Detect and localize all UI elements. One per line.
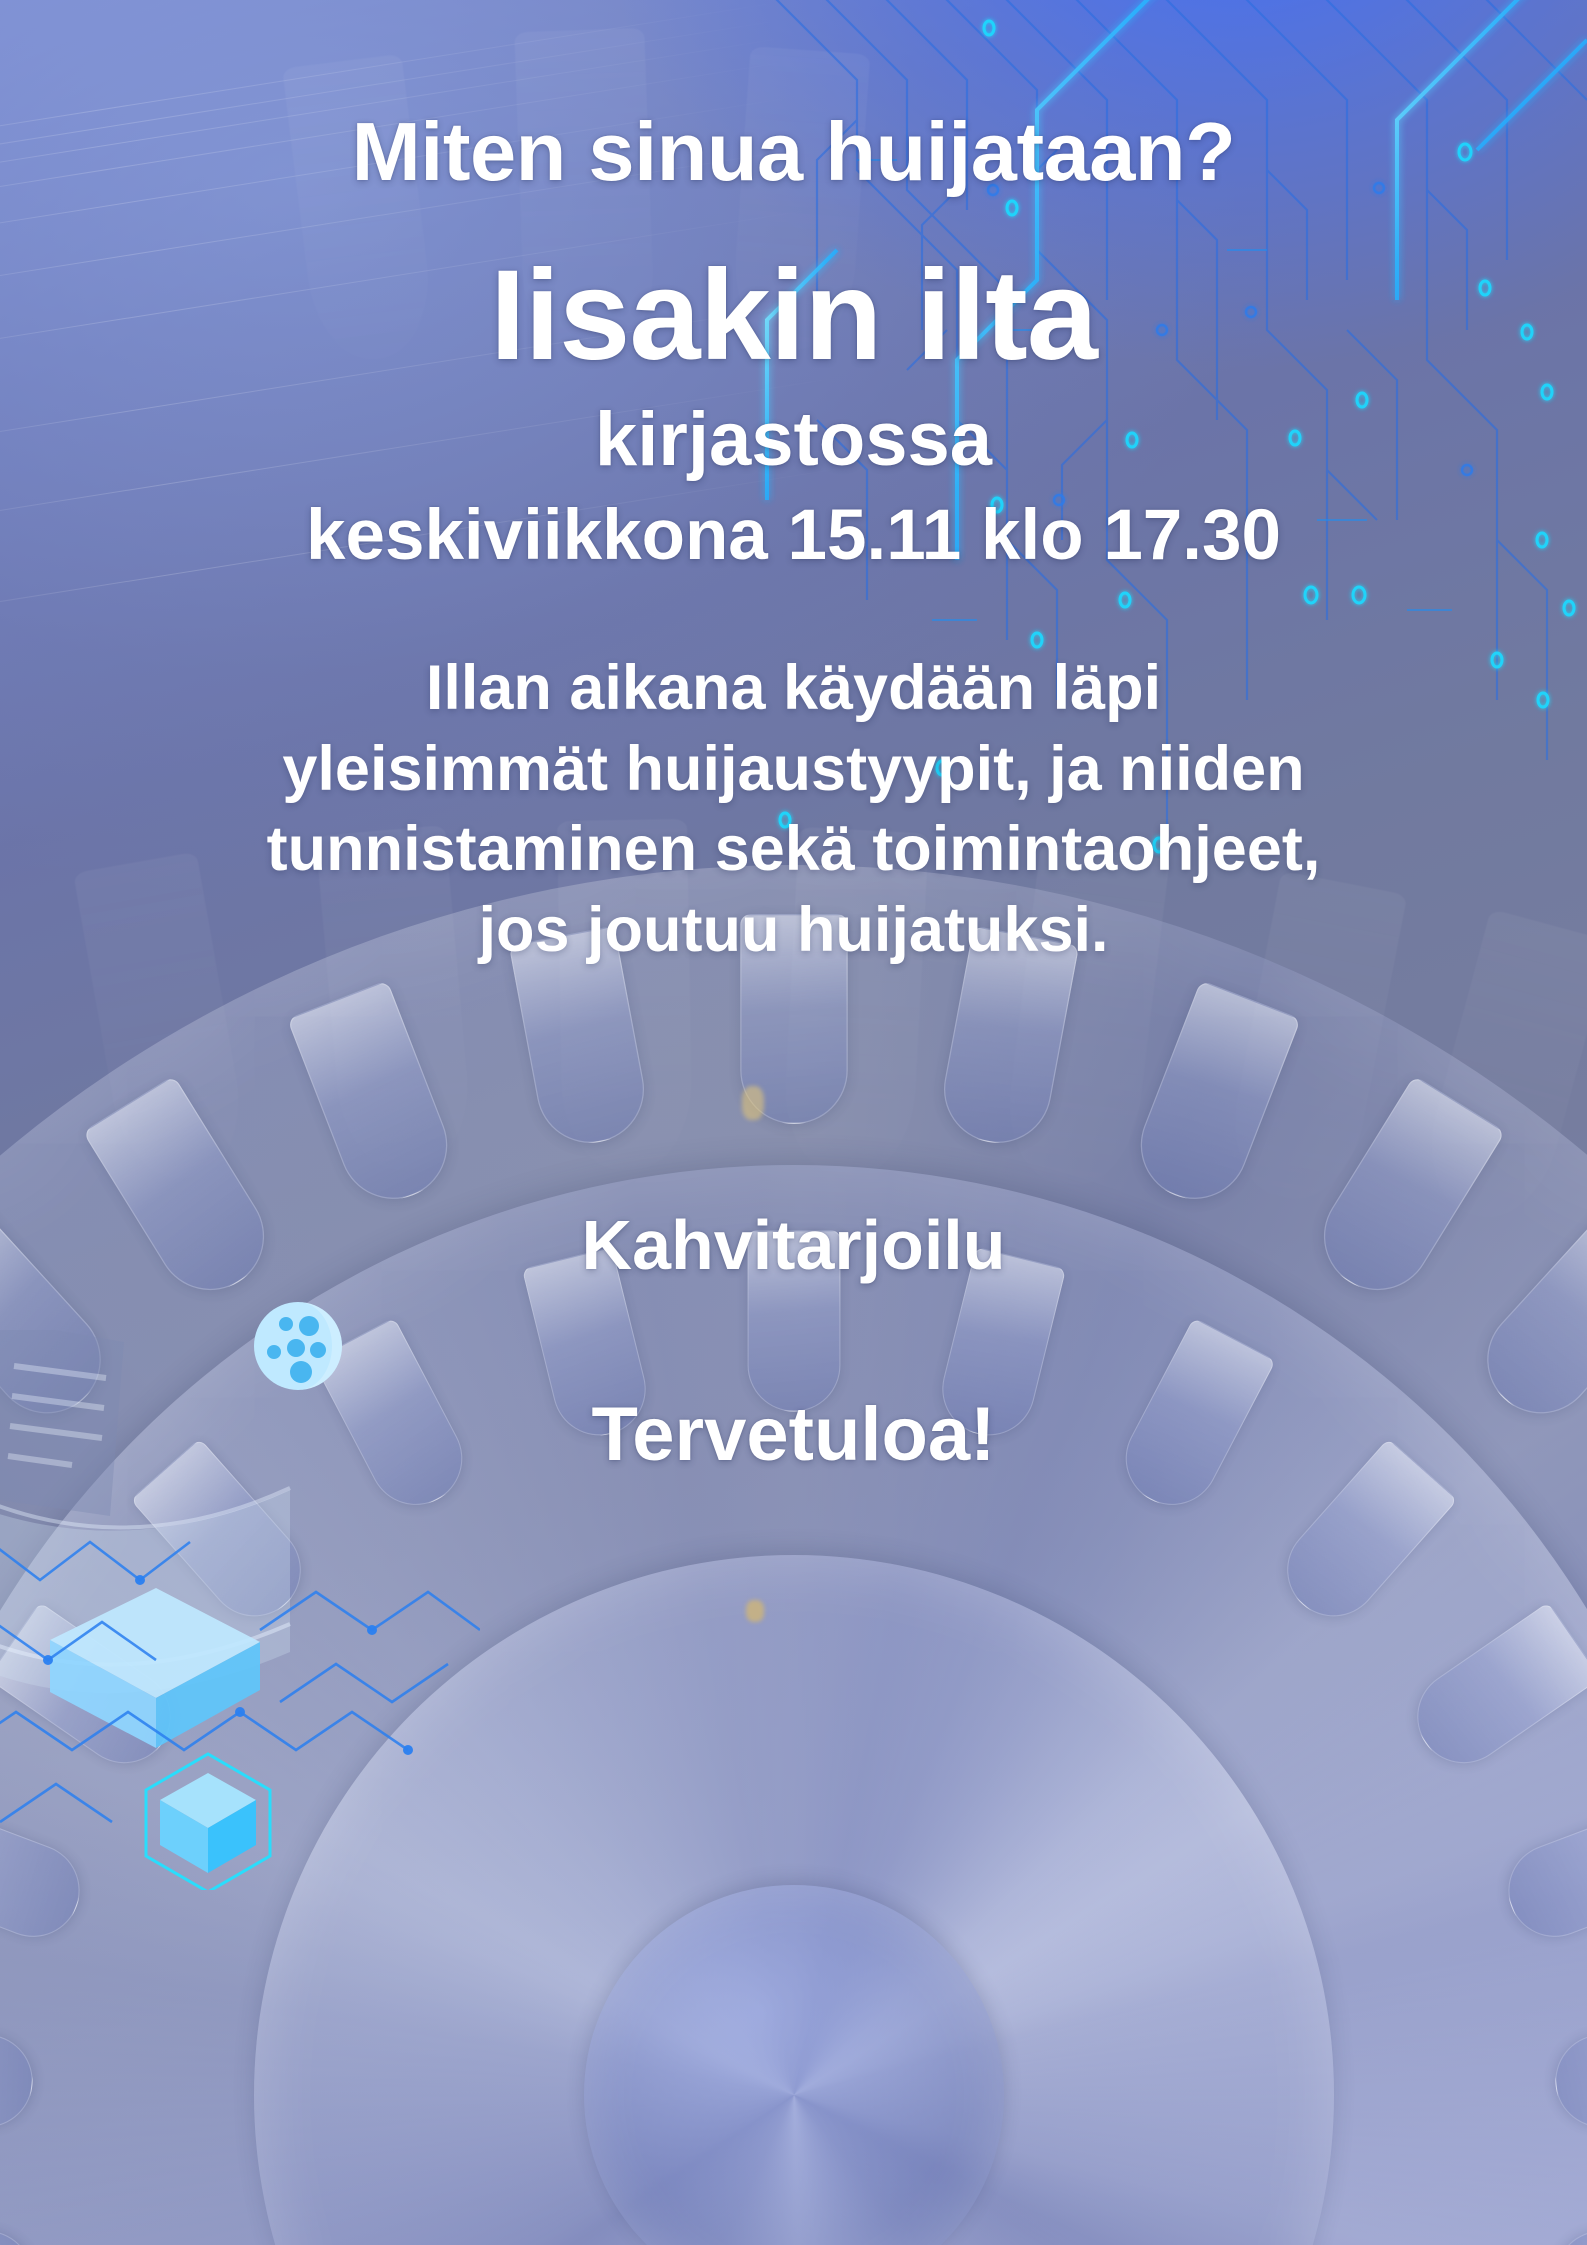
- poster: Miten sinua huijataan? Iisakin ilta kirj…: [0, 0, 1587, 2245]
- poster-refreshments: Kahvitarjoilu: [0, 1208, 1587, 1282]
- poster-body: Illan aikana käydään läpi yleisimmät hui…: [40, 648, 1547, 971]
- body-line: jos joutuu huijatuksi.: [40, 890, 1547, 971]
- poster-datetime: keskiviikkona 15.11 klo 17.30: [0, 498, 1587, 573]
- body-line: tunnistaminen sekä toimintaohjeet,: [40, 809, 1547, 890]
- body-line: Illan aikana käydään läpi: [40, 648, 1547, 729]
- poster-title: Iisakin ilta: [0, 248, 1587, 384]
- poster-location: kirjastossa: [0, 400, 1587, 481]
- poster-welcome: Tervetuloa!: [0, 1395, 1587, 1476]
- poster-text: Miten sinua huijataan? Iisakin ilta kirj…: [0, 0, 1587, 2245]
- poster-kicker: Miten sinua huijataan?: [0, 108, 1587, 196]
- body-line: yleisimmät huijaustyypit, ja niiden: [40, 729, 1547, 810]
